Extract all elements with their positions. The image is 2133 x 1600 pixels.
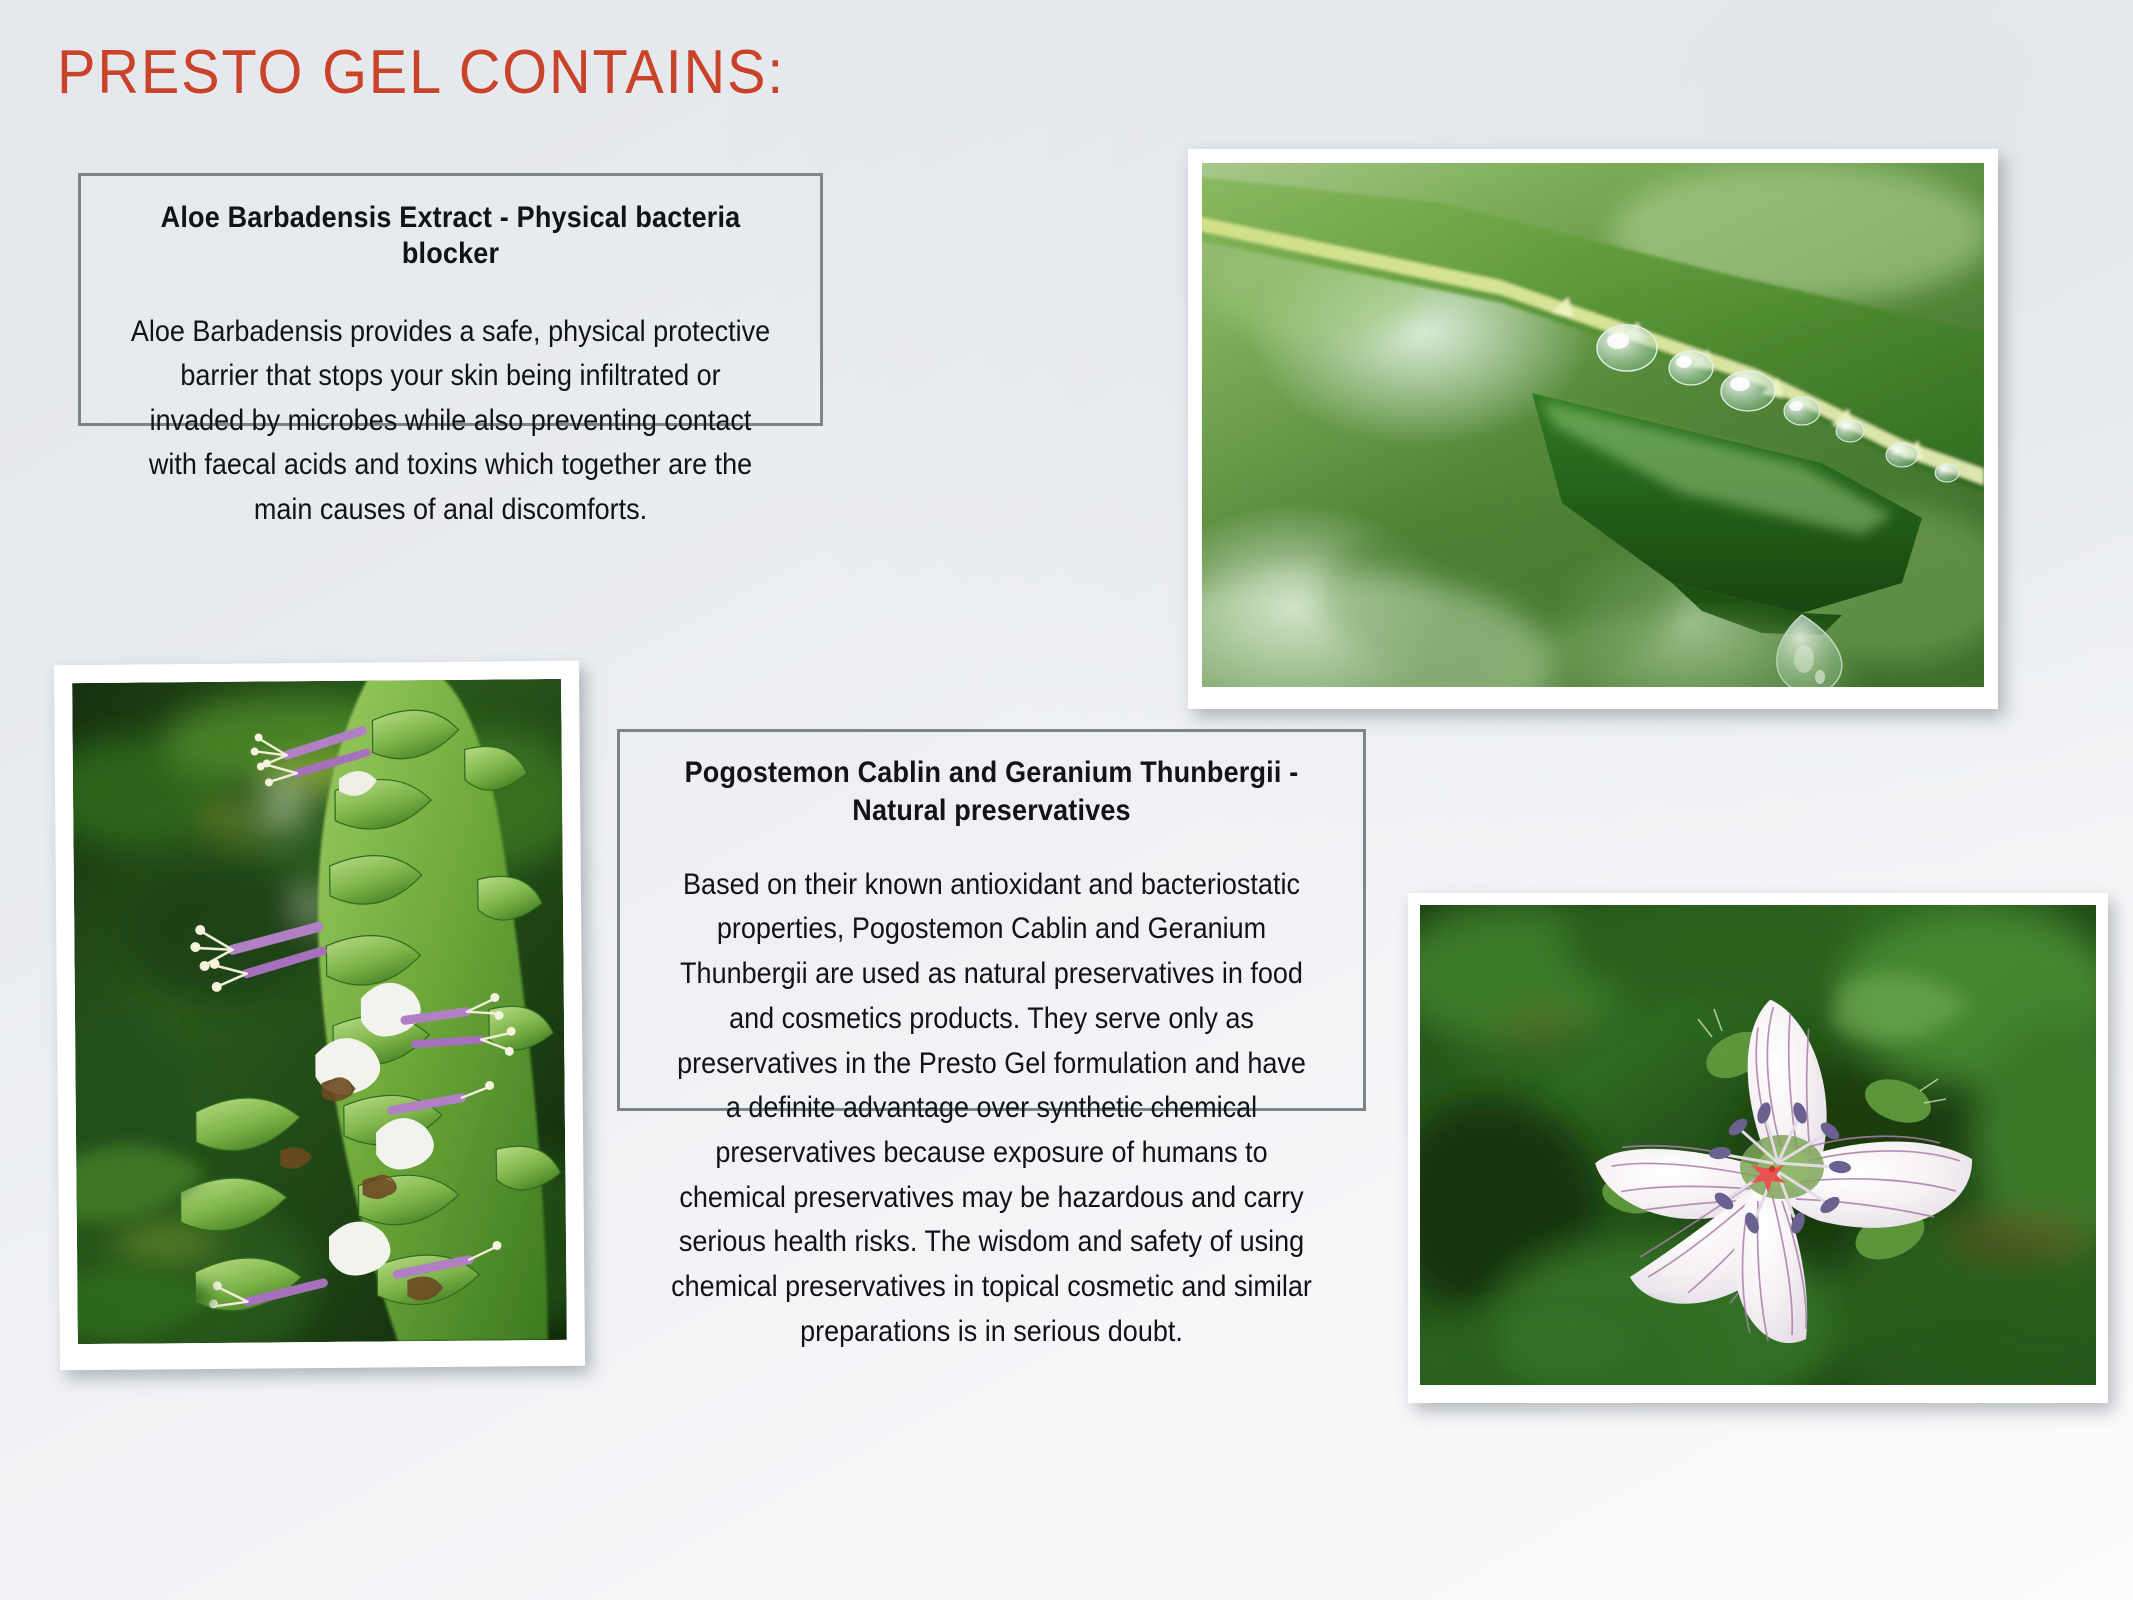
photo-patchouli-image	[72, 679, 567, 1344]
photo-geranium	[1408, 893, 2108, 1403]
panel-pogostemon-geranium: Pogostemon Cablin and Geranium Thunbergi…	[617, 729, 1366, 1111]
panel-aloe-body: Aloe Barbadensis provides a safe, physic…	[131, 310, 771, 532]
photo-aloe-leaf	[1188, 149, 1998, 709]
panel-aloe-heading: Aloe Barbadensis Extract - Physical bact…	[118, 200, 783, 272]
photo-patchouli	[54, 661, 585, 1371]
photo-geranium-image	[1420, 905, 2096, 1385]
panel-aloe-barbadensis: Aloe Barbadensis Extract - Physical bact…	[78, 173, 823, 426]
photo-aloe-leaf-image	[1202, 163, 1984, 687]
page-title: PRESTO GEL CONTAINS:	[57, 40, 785, 105]
panel-pogostemon-body: Based on their known antioxidant and bac…	[666, 863, 1317, 1355]
slide-canvas: PRESTO GEL CONTAINS:	[0, 0, 2133, 1600]
panel-pogostemon-heading: Pogostemon Cablin and Geranium Thunbergi…	[677, 754, 1306, 831]
